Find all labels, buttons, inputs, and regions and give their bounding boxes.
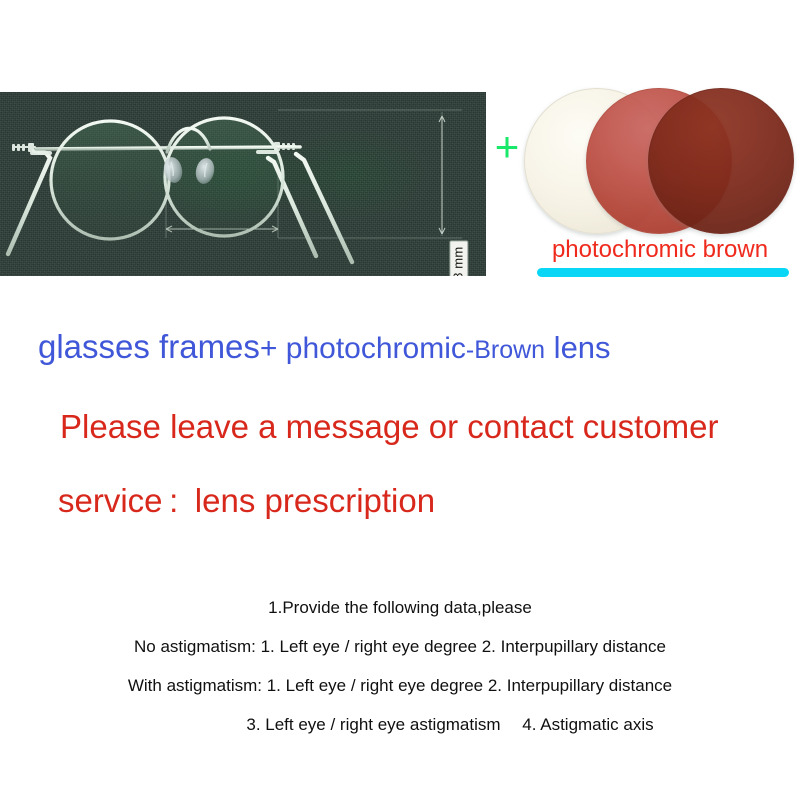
instruction-row: 3. Left eye / right eye astigmatism 4. A… [0, 705, 800, 744]
frame-illustration [0, 92, 486, 276]
product-listing-image: 38 mm 38 mm + photochromic brown glasses… [0, 0, 800, 800]
instruction-row: With astigmatism: 1. Left eye / right ey… [0, 666, 800, 705]
eyeglass-frame-photo: 38 mm 38 mm [0, 92, 486, 276]
product-banner: 38 mm 38 mm + photochromic brown [0, 0, 800, 292]
lens-caption: photochromic brown [524, 236, 796, 264]
plus-icon: + [492, 133, 522, 163]
contact-message-line-2: service : lens prescription [58, 482, 435, 520]
prescription-instructions: 1.Provide the following data,please No a… [0, 588, 800, 744]
caption-underline-bar [537, 268, 789, 277]
headline-part-brown: -Brown [466, 336, 545, 364]
page-title: glasses frames+ photochromic-Brown lens [38, 328, 778, 366]
headline-part-photochromic: + photochromic [260, 332, 466, 365]
instruction-row: 1.Provide the following data,please [0, 588, 800, 627]
contact-message-line-1: Please leave a message or contact custom… [60, 408, 719, 446]
lens-dark-state-icon [648, 88, 794, 234]
instruction-row: No astigmatism: 1. Left eye / right eye … [0, 627, 800, 666]
headline-part-frames: glasses frames [38, 328, 260, 365]
headline-part-lens: lens [545, 330, 610, 365]
frame-height-dimension-label: 38 mm [449, 241, 468, 276]
photochromic-lens-swatches [524, 88, 792, 232]
